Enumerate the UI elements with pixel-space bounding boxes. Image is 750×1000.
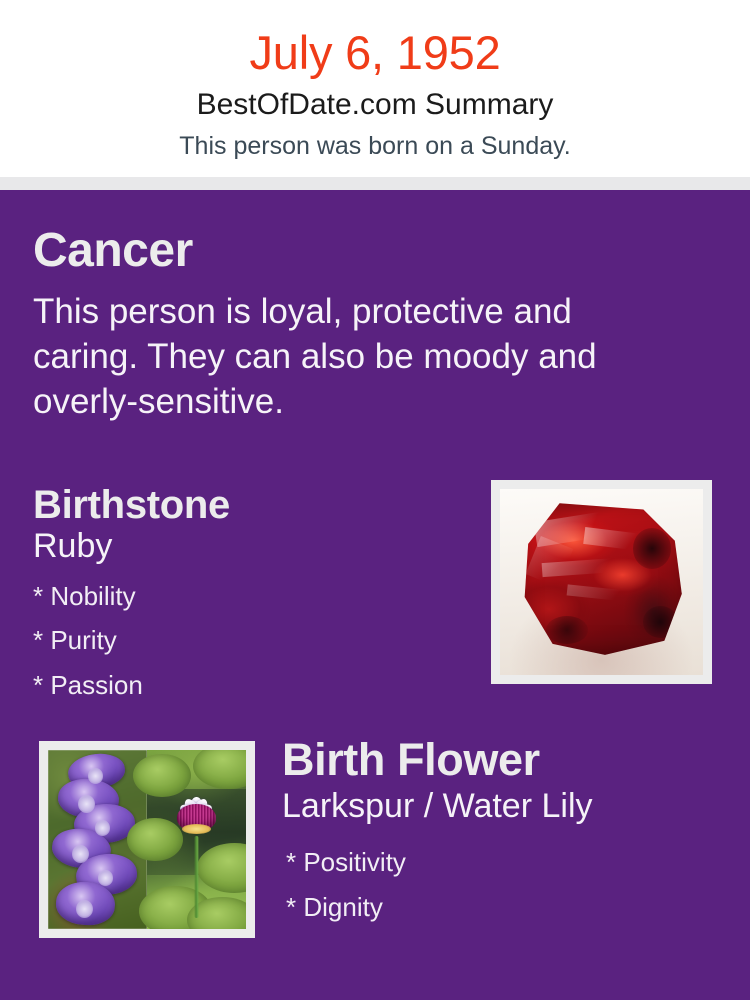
birthstone-name: Ruby [33, 526, 463, 567]
ruby-facet-highlight [566, 584, 637, 602]
larkspur-and-water-lily-photo [48, 750, 246, 929]
birthstone-trait-list: * Nobility * Purity * Passion [33, 574, 463, 708]
zodiac-description: This person is loyal, protective and car… [33, 290, 653, 424]
ruby-inclusion [643, 606, 678, 637]
larkspur-blossom-center [72, 845, 89, 863]
list-item: * Purity [33, 618, 463, 663]
content-panel: Cancer This person is loyal, protective … [0, 190, 750, 1000]
larkspur-blossom-center [78, 795, 95, 813]
page-title: July 6, 1952 [0, 28, 750, 77]
ruby-inclusion [546, 616, 588, 644]
list-item: * Positivity [286, 840, 732, 885]
water-lily-bloom [155, 782, 238, 854]
header: July 6, 1952 BestOfDate.com Summary This… [0, 0, 750, 177]
header-divider [0, 177, 750, 190]
larkspur-blossom-center [95, 820, 111, 836]
birthstone-image-frame [491, 480, 712, 684]
list-item: * Nobility [33, 574, 463, 619]
born-day-line: This person was born on a Sunday. [0, 133, 750, 161]
list-item: * Dignity [286, 885, 732, 930]
site-summary-subtitle: BestOfDate.com Summary [0, 88, 750, 121]
ruby-facet-highlight [525, 536, 573, 587]
summary-card: July 6, 1952 BestOfDate.com Summary This… [0, 0, 750, 1000]
larkspur-blossom-center [76, 900, 93, 918]
birthstone-heading: Birthstone [33, 483, 463, 528]
birth-flower-heading: Birth Flower [282, 735, 732, 785]
water-lily-stamen-tips [182, 824, 212, 834]
water-lily-photo-panel [147, 750, 246, 929]
ruby-inclusion [633, 528, 671, 569]
zodiac-sign-name: Cancer [33, 225, 193, 278]
birth-flower-image-frame [39, 741, 255, 938]
birth-flower-trait-list: * Positivity * Dignity [286, 840, 732, 929]
list-item: * Passion [33, 663, 463, 708]
birth-flower-section: Birth Flower Larkspur / Water Lily * Pos… [282, 735, 732, 930]
ruby-crystal-shape [514, 500, 689, 656]
ruby-gemstone-photo [500, 489, 703, 675]
birthstone-section: Birthstone Ruby * Nobility * Purity * Pa… [33, 483, 463, 708]
birth-flower-name: Larkspur / Water Lily [282, 786, 732, 827]
